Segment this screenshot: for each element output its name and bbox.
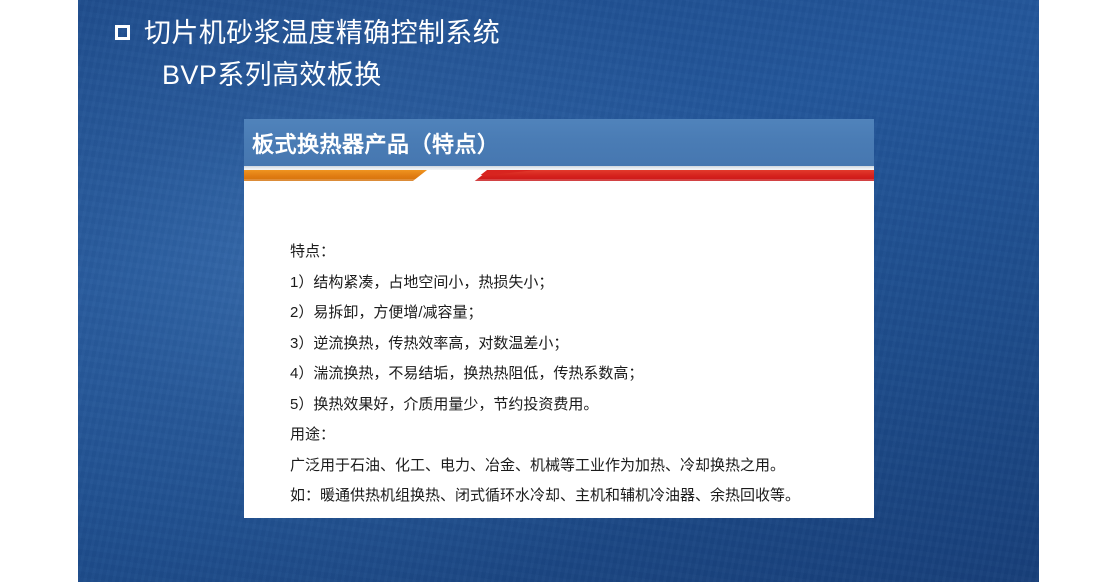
feature-line: 用途： [290, 420, 865, 451]
slide-canvas: 切片机砂浆温度精确控制系统 BVP系列高效板换 板式换热器产品（特点） 特点： … [0, 0, 1117, 582]
hollow-square-bullet-icon [115, 25, 130, 40]
heading-line-2-text: BVP系列高效板换 [162, 54, 382, 96]
feature-line: 2）易拆卸，方便增/减容量； [290, 298, 865, 329]
feature-line: 1）结构紧凑，占地空间小，热损失小； [290, 268, 865, 299]
accent-stripe-highlight [244, 179, 874, 181]
content-card: 板式换热器产品（特点） 特点： 1）结构紧凑，占地空间小，热损失小； 2）易拆卸… [244, 119, 874, 518]
heading-line-1: 切片机砂浆温度精确控制系统 [115, 12, 895, 54]
feature-line: 4）湍流换热，不易结垢，换热热阻低，传热系数高； [290, 359, 865, 390]
heading-line-2: BVP系列高效板换 [115, 54, 895, 96]
feature-line: 3）逆流换热，传热效率高，对数温差小； [290, 329, 865, 360]
card-title: 板式换热器产品（特点） [252, 127, 500, 159]
heading-line-1-text: 切片机砂浆温度精确控制系统 [144, 12, 500, 54]
slide-heading: 切片机砂浆温度精确控制系统 BVP系列高效板换 [115, 12, 895, 96]
feature-line: 如：暖通供热机组换热、闭式循环水冷却、主机和辅机冷油器、余热回收等。 [290, 481, 865, 512]
accent-stripe [244, 170, 874, 181]
card-header-bar: 板式换热器产品（特点） [244, 119, 874, 166]
feature-line: 广泛用于石油、化工、电力、冶金、机械等工业作为加热、冷却换热之用。 [290, 451, 865, 482]
feature-line: 5）换热效果好，介质用量少，节约投资费用。 [290, 390, 865, 421]
feature-line: 特点： [290, 237, 865, 268]
feature-list: 特点： 1）结构紧凑，占地空间小，热损失小； 2）易拆卸，方便增/减容量； 3）… [290, 237, 865, 512]
